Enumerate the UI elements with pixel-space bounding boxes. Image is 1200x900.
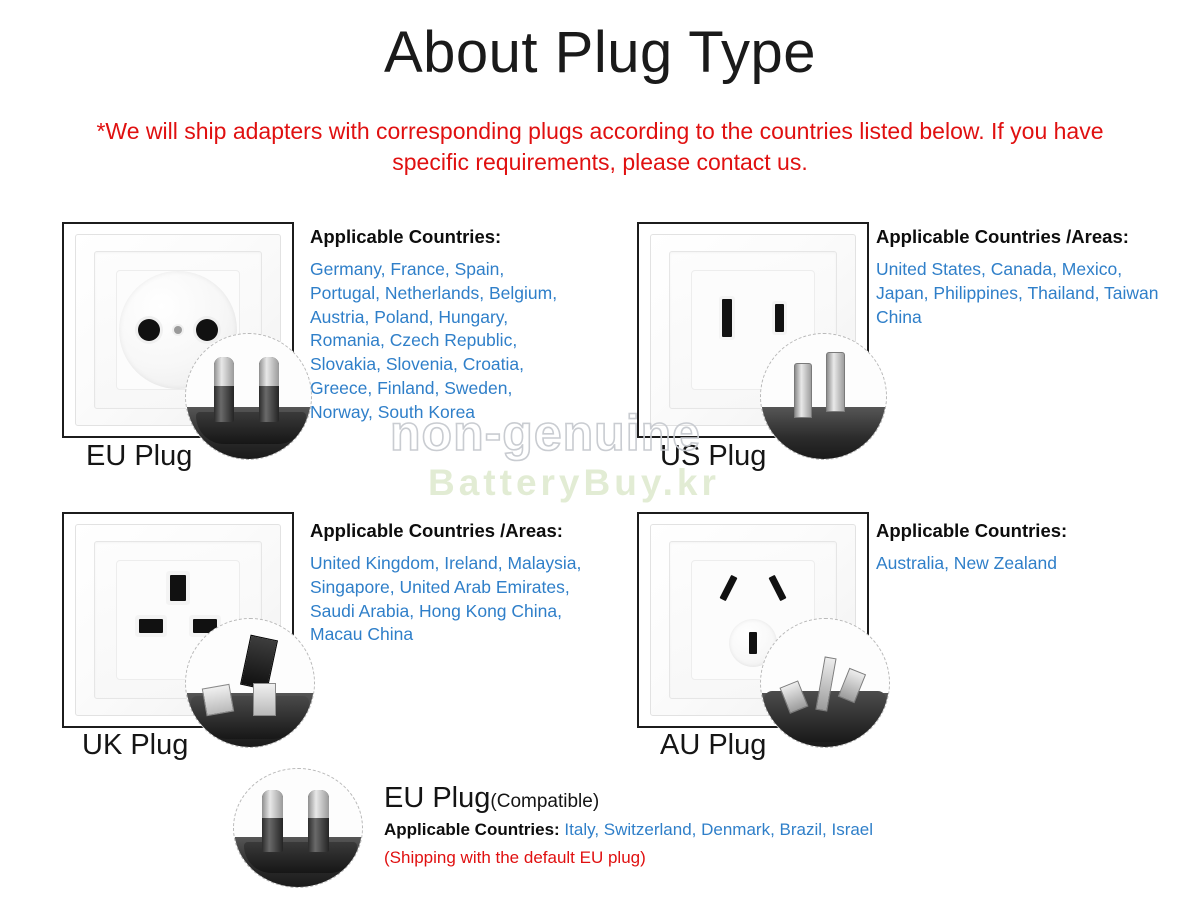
shipping-note: *We will ship adapters with correspondin…	[60, 116, 1140, 178]
eu-compatible-note: (Shipping with the default EU plug)	[384, 848, 646, 868]
eu-compatible-title-sub: (Compatible)	[490, 791, 599, 812]
au-plug-icon	[760, 618, 890, 748]
eu-prong-left	[214, 357, 234, 422]
eu-compatible-title: EU Plug(Compatible)	[384, 782, 599, 815]
uk-plug-icon	[185, 618, 315, 748]
eu-plug-body	[196, 412, 306, 445]
eu-prong-right	[259, 357, 279, 422]
eu-hole-right	[196, 319, 218, 341]
au-plug-caption: AU Plug	[660, 729, 766, 762]
eu-plug-icon	[185, 333, 312, 460]
eu-compatible-countries: Italy, Switzerland, Denmark, Brazil, Isr…	[564, 820, 873, 839]
eu-compatible-title-main: EU Plug	[384, 782, 490, 814]
uk-slot-live	[139, 619, 163, 633]
au-slot-neutral	[768, 575, 786, 601]
eu-plug-caption: EU Plug	[86, 440, 192, 473]
au-countries-list: Australia, New Zealand	[876, 552, 1166, 576]
eu-prong-right	[308, 790, 328, 851]
eu-prong-left	[262, 790, 282, 851]
uk-country-panel: Applicable Countries /Areas: United King…	[310, 520, 600, 647]
eu-compatible-plug-icon	[233, 768, 363, 888]
uk-countries-heading: Applicable Countries /Areas:	[310, 520, 600, 542]
uk-pin-neutral	[253, 683, 276, 716]
uk-pin-live	[202, 683, 235, 716]
au-countries-heading: Applicable Countries:	[876, 520, 1166, 542]
eu-plug-body	[244, 842, 357, 873]
us-plug-caption: US Plug	[660, 440, 766, 473]
eu-countries-list: Germany, France, Spain, Portugal, Nether…	[310, 258, 578, 425]
us-blade-left	[794, 363, 813, 418]
uk-countries-list: United Kingdom, Ireland, Malaysia, Singa…	[310, 552, 600, 647]
us-countries-list: United States, Canada, Mexico, Japan, Ph…	[876, 258, 1166, 329]
page-title: About Plug Type	[0, 24, 1200, 82]
eu-center-pin	[174, 326, 182, 334]
eu-compatible-heading: Applicable Countries:	[384, 820, 560, 839]
eu-countries-heading: Applicable Countries:	[310, 226, 578, 248]
au-slot-active	[719, 575, 737, 601]
us-blade-right	[826, 352, 845, 412]
eu-country-panel: Applicable Countries: Germany, France, S…	[310, 226, 578, 425]
uk-plug-caption: UK Plug	[82, 729, 188, 762]
us-countries-heading: Applicable Countries /Areas:	[876, 226, 1166, 248]
eu-compatible-countries-line: Applicable Countries: Italy, Switzerland…	[384, 820, 873, 840]
us-plug-icon	[760, 333, 887, 460]
eu-hole-left	[138, 319, 160, 341]
au-slot-earth	[749, 632, 757, 654]
au-country-panel: Applicable Countries: Australia, New Zea…	[876, 520, 1166, 576]
us-country-panel: Applicable Countries /Areas: United Stat…	[876, 226, 1166, 329]
plug-type-infographic: About Plug Type *We will ship adapters w…	[0, 0, 1200, 900]
magnifier-floor	[761, 407, 886, 460]
uk-slot-earth	[170, 575, 186, 601]
us-slot-left	[722, 299, 732, 337]
us-slot-right	[775, 304, 784, 332]
